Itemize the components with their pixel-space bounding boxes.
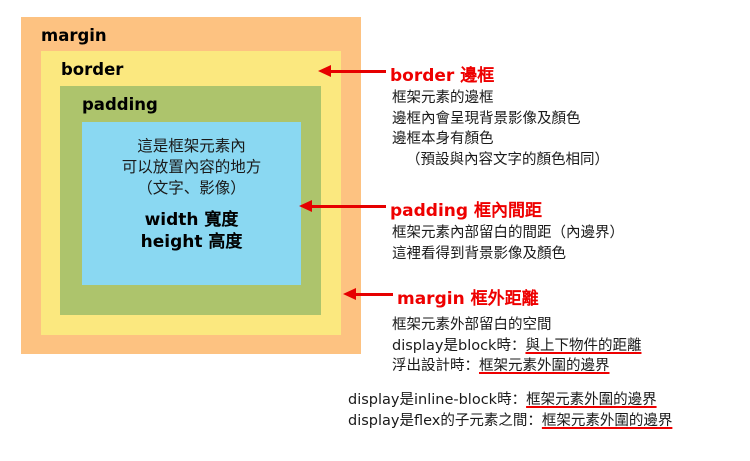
annotation-line: display是flex的子元素之間：框架元素外圍的邊界 [348,411,672,432]
padding-layer-label: padding [82,95,158,114]
padding-annotation-heading: padding 框內間距 [390,196,542,221]
annotation-line: 邊框本身有顏色 [392,129,609,150]
padding-annotation-body: 框架元素內部留白的間距（內邊界） 這裡看得到背景影像及顏色 [392,223,624,264]
margin-annotation-body: 框架元素外部留白的空間 display是block時：與上下物件的距離 浮出設計… [392,315,641,377]
annotation-prefix: display是inline-block時： [348,392,526,408]
margin-layer: margin border padding 這是框架元素內 可以放置內容的地方 … [21,17,361,354]
margin-annotation-extra: display是inline-block時：框架元素外圍的邊界 display是… [348,390,672,431]
padding-callout-arrow-icon [299,200,386,212]
arrow-shaft [351,293,393,296]
annotation-line: 框架元素的邊框 [392,88,609,109]
border-layer-label: border [61,60,123,79]
annotation-line: 框架元素內部留白的間距（內邊界） [392,223,624,244]
annotation-line: 邊框內會呈現背景影像及顏色 [392,109,609,130]
border-callout-arrow-icon [318,65,386,77]
border-annotation-heading: border 邊框 [390,61,494,86]
annotation-underlined: 框架元素外圍的邊界 [479,358,610,374]
annotation-prefix: display是flex的子元素之間： [348,413,542,429]
annotation-underlined: 框架元素外圍的邊界 [542,413,673,429]
annotation-line: display是inline-block時：框架元素外圍的邊界 [348,390,672,411]
annotation-line: 浮出設計時：框架元素外圍的邊界 [392,356,641,377]
annotation-underlined: 與上下物件的距離 [525,338,641,354]
border-annotation-body: 框架元素的邊框 邊框內會呈現背景影像及顏色 邊框本身有顏色 （預設與內容文字的顏… [392,88,609,170]
content-text-line: （文字、影像） [137,178,246,199]
arrow-shaft [326,70,386,73]
annotation-line: display是block時：與上下物件的距離 [392,336,641,357]
content-layer: 這是框架元素內 可以放置內容的地方 （文字、影像） width 寬度 heigh… [82,122,301,285]
margin-annotation-heading: margin 框外距離 [397,284,539,309]
annotation-line: 這裡看得到背景影像及顏色 [392,244,624,265]
content-height-label: height 高度 [141,231,243,253]
content-width-label: width 寬度 [145,209,239,231]
margin-layer-label: margin [41,26,107,45]
border-layer: border padding 這是框架元素內 可以放置內容的地方 （文字、影像）… [41,51,341,335]
annotation-line: （預設與內容文字的顏色相同） [392,150,609,171]
css-box-model-diagram: margin border padding 這是框架元素內 可以放置內容的地方 … [21,17,361,354]
annotation-underlined: 框架元素外圍的邊界 [526,392,657,408]
content-text-line: 這是框架元素內 [137,136,246,157]
annotation-line: 框架元素外部留白的空間 [392,315,641,336]
annotation-prefix: display是block時： [392,338,525,354]
annotation-prefix: 浮出設計時： [392,358,479,374]
padding-layer: padding 這是框架元素內 可以放置內容的地方 （文字、影像） width … [60,86,321,315]
arrow-shaft [307,205,386,208]
annotation-line-indented: （預設與內容文字的顏色相同） [392,150,609,171]
content-text-line: 可以放置內容的地方 [122,157,262,178]
margin-callout-arrow-icon [343,288,393,300]
